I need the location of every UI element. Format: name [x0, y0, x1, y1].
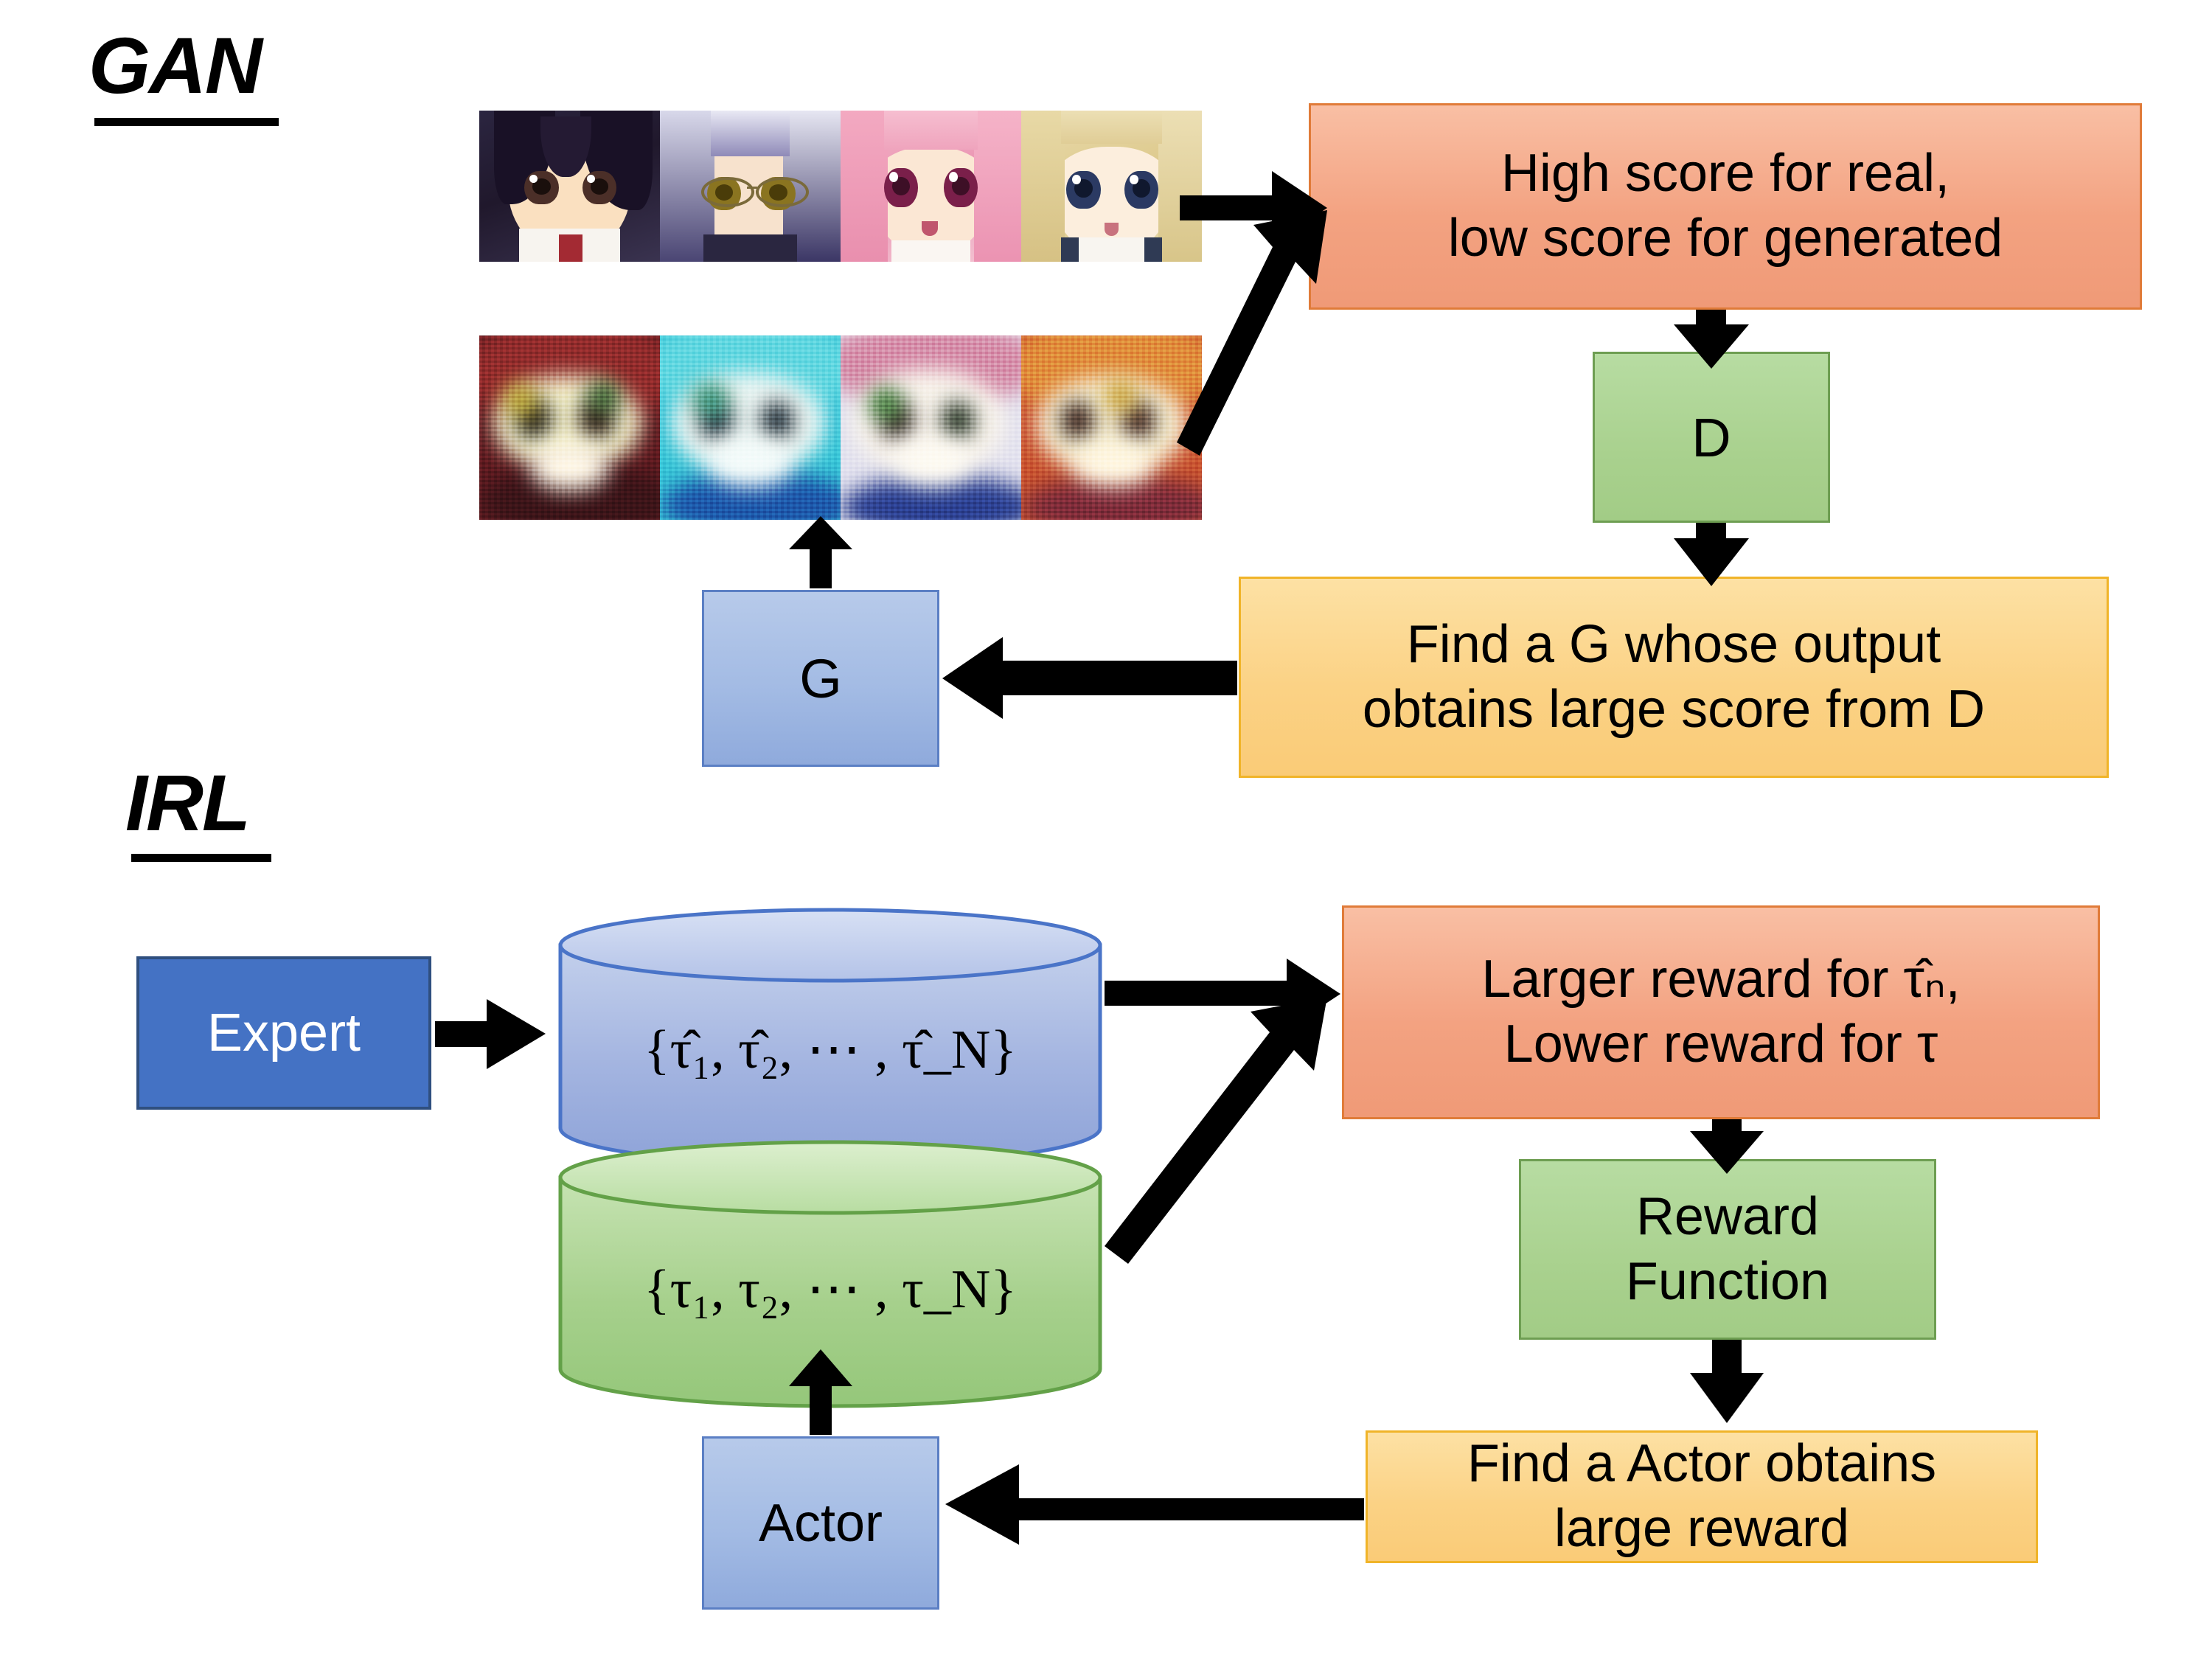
- arrow-actor-objective-to-actor: [945, 1464, 1364, 1545]
- expert-trajectory-cylinder: {τ̂₁, τ̂₂, ⋯ , τ̂_N}: [557, 907, 1103, 1158]
- diagram-canvas: GAN: [0, 0, 2212, 1659]
- expert-trajectory-label: {τ̂₁, τ̂₂, ⋯ , τ̂_N}: [557, 1018, 1103, 1082]
- glasses-left-icon: [701, 177, 754, 207]
- discriminator-objective-text: High score for real, low score for gener…: [1311, 142, 2140, 271]
- real-image-2: [660, 111, 841, 262]
- reward-function-box: Reward Function: [1519, 1159, 1936, 1340]
- arrow-reward-function-to-actor-objective: [1690, 1340, 1764, 1423]
- expert-box: Expert: [136, 956, 431, 1110]
- gan-title-underline: [94, 118, 279, 126]
- reward-objective-box: Larger reward for τ̂ₙ, Lower reward for …: [1342, 905, 2100, 1119]
- arrow-generator-objective-to-generator: [942, 637, 1237, 719]
- real-image-3: [841, 111, 1021, 262]
- irl-section-title: IRL: [125, 763, 249, 843]
- generated-image-2: [660, 335, 841, 520]
- generator-objective-box: Find a G whose output obtains large scor…: [1239, 577, 2109, 778]
- generated-image-3: [841, 335, 1021, 520]
- reward-objective-text: Larger reward for τ̂ₙ, Lower reward for …: [1344, 947, 2098, 1077]
- real-image-4: [1021, 111, 1202, 262]
- generated-images-strip: [479, 335, 1202, 520]
- arrow-expert-to-trajectories: [435, 999, 546, 1069]
- gan-section-title: GAN: [88, 26, 261, 105]
- discriminator-objective-box: High score for real, low score for gener…: [1309, 103, 2142, 310]
- generator-objective-text: Find a G whose output obtains large scor…: [1241, 613, 2107, 742]
- actor-objective-box: Find a Actor obtains large reward: [1366, 1430, 2038, 1563]
- actor-trajectory-label: {τ₁, τ₂, ⋯ , τ_N}: [557, 1257, 1103, 1321]
- arrow-expert-trajectories-to-reward-objective: [1105, 959, 1340, 1029]
- generator-label: G: [704, 647, 937, 710]
- generator-box: G: [702, 590, 939, 767]
- reward-function-label: Reward Function: [1521, 1185, 1934, 1315]
- discriminator-box: D: [1593, 352, 1830, 523]
- irl-title-underline: [131, 854, 271, 862]
- generated-image-4: [1021, 335, 1202, 520]
- actor-objective-text: Find a Actor obtains large reward: [1368, 1432, 2036, 1562]
- generated-image-1: [479, 335, 660, 520]
- actor-trajectory-cylinder: {τ₁, τ₂, ⋯ , τ_N}: [557, 1139, 1103, 1408]
- glasses-right-icon: [756, 177, 809, 207]
- real-images-strip: [479, 111, 1202, 262]
- discriminator-label: D: [1595, 406, 1828, 469]
- arrow-real-to-discriminator: [1180, 171, 1327, 245]
- actor-box: Actor: [702, 1436, 939, 1610]
- expert-label: Expert: [139, 1003, 428, 1063]
- actor-label: Actor: [704, 1493, 937, 1554]
- real-image-1: [479, 111, 660, 262]
- arrow-generator-to-generated-images: [789, 516, 852, 588]
- arrow-actor-trajectories-to-reward-objective: [1105, 997, 1327, 1264]
